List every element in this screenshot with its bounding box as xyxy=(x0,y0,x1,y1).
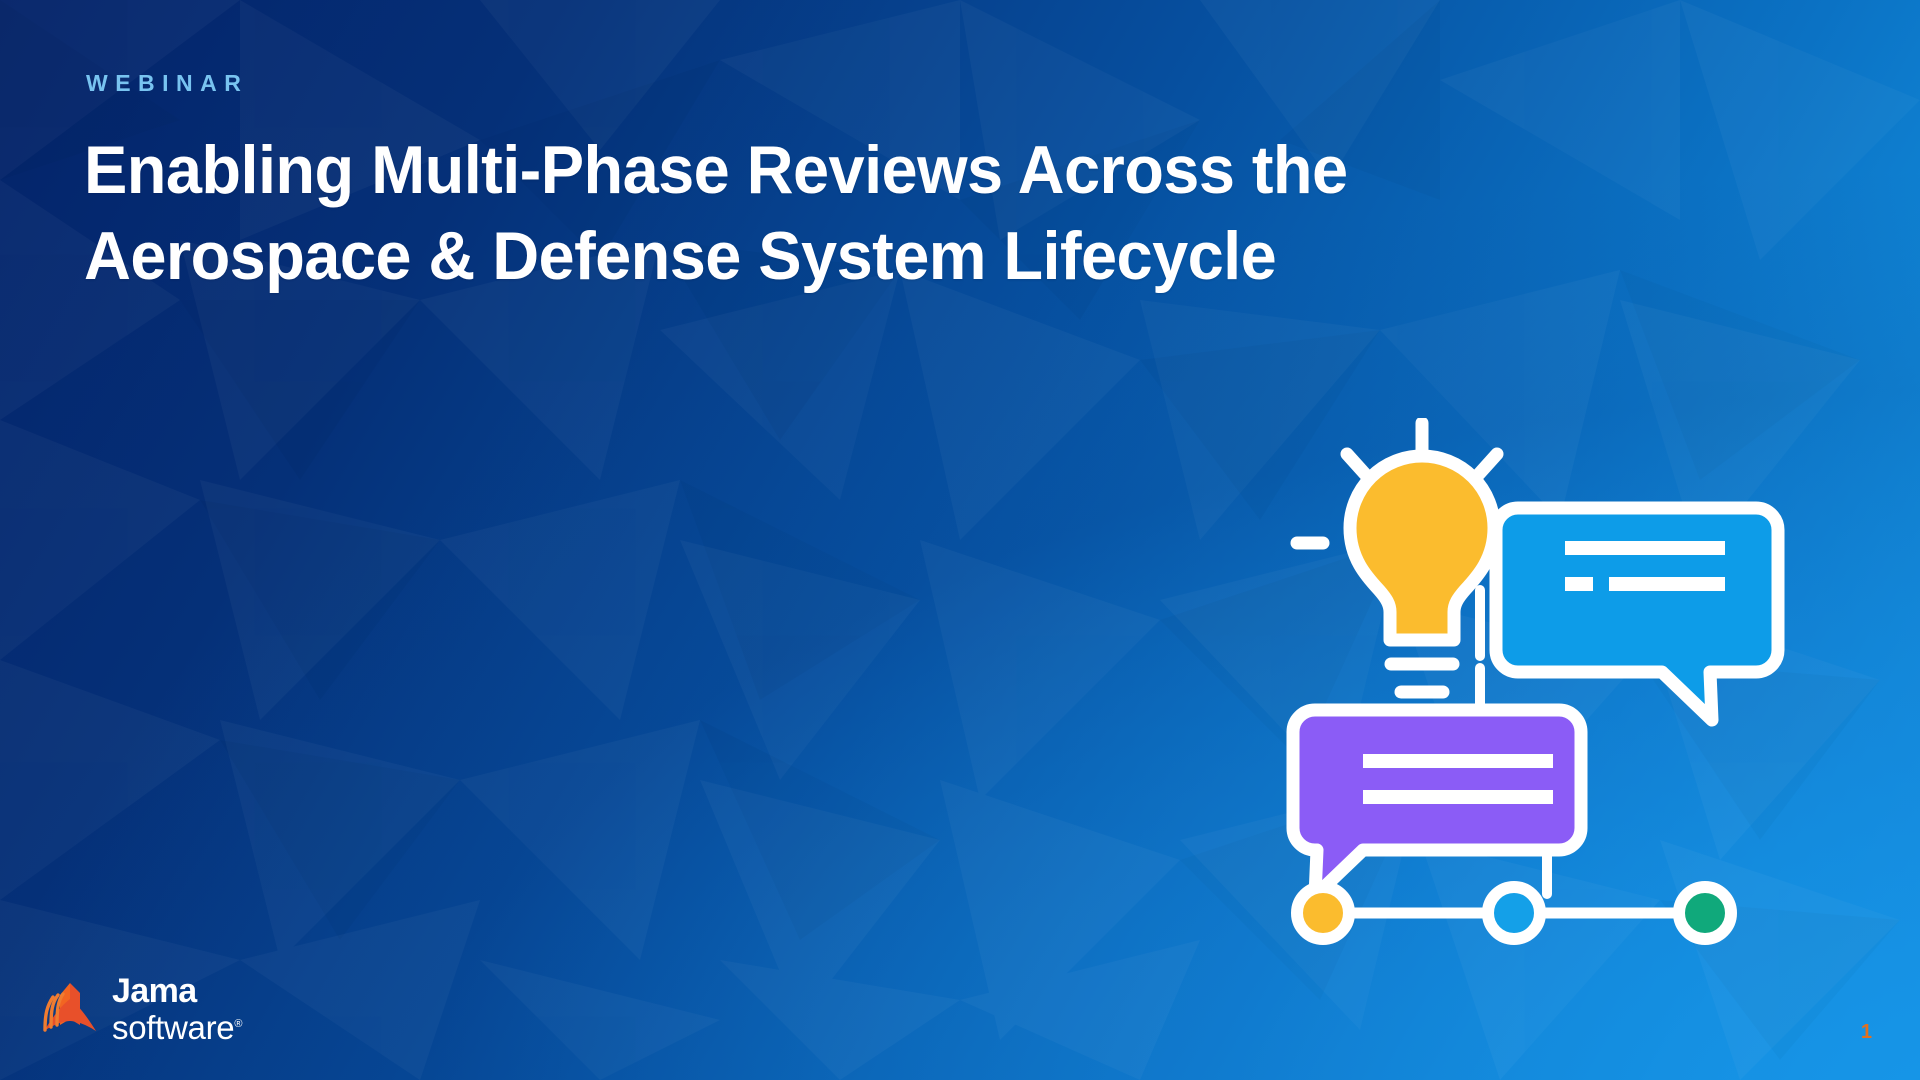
eyebrow-label: WEBINAR xyxy=(86,72,248,95)
lightbulb-icon xyxy=(1350,456,1494,692)
logo-wordmark-secondary: software® xyxy=(112,1011,242,1044)
bulb-ray-upper-right xyxy=(1479,454,1497,474)
timeline-node-green xyxy=(1679,887,1731,939)
jama-software-logo: Jama software® xyxy=(40,975,242,1045)
webinar-title-slide: WEBINAR Enabling Multi-Phase Reviews Acr… xyxy=(0,0,1920,1080)
timeline-node-blue xyxy=(1488,887,1540,939)
bulb-ray-upper-left xyxy=(1347,454,1365,474)
purple-comment-bubble xyxy=(1293,710,1581,896)
title-line-1: Enabling Multi-Phase Reviews Across the xyxy=(84,128,1708,214)
logo-wordmark-secondary-text: software xyxy=(112,1009,234,1046)
registered-mark-icon: ® xyxy=(234,1018,242,1030)
logo-wordmark-primary: Jama xyxy=(112,974,242,1008)
jama-chevron-mark xyxy=(40,979,98,1041)
collaboration-review-illustration xyxy=(1275,418,1795,948)
page-title: Enabling Multi-Phase Reviews Across the … xyxy=(84,128,1708,299)
blue-comment-bubble xyxy=(1496,508,1778,720)
timeline-node-yellow xyxy=(1297,887,1349,939)
page-number: 1 xyxy=(1861,1022,1872,1042)
title-line-2: Aerospace & Defense System Lifecycle xyxy=(84,214,1708,300)
